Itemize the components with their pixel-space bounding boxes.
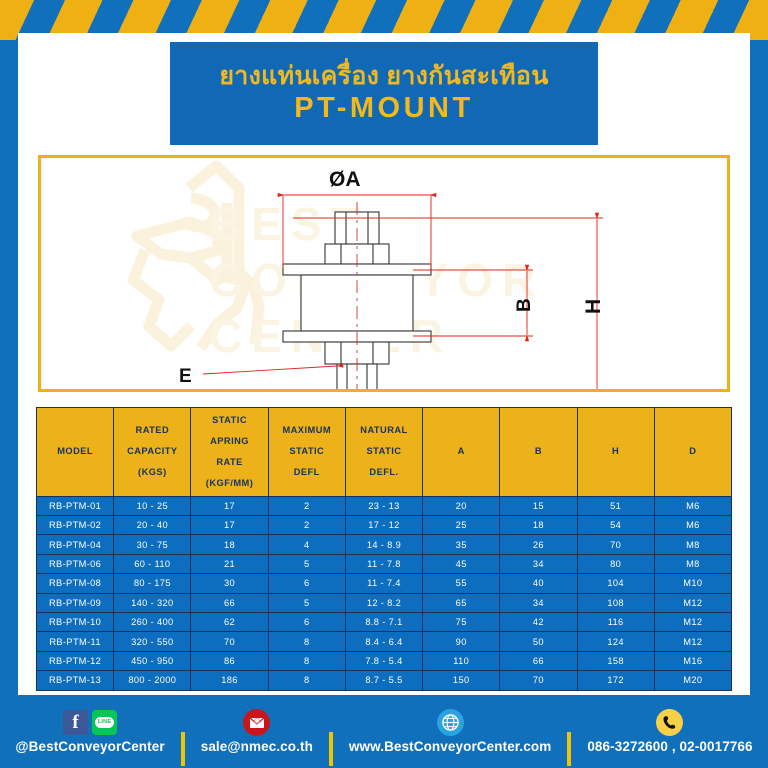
cell-a: 35 bbox=[423, 535, 500, 554]
column-header-b: B bbox=[500, 408, 577, 497]
contact-social-label: @BestConveyorCenter bbox=[15, 739, 164, 754]
cell-b: 18 bbox=[500, 516, 577, 535]
cell-rated-capacity: 60 - 110 bbox=[114, 554, 191, 573]
table-row: RB-PTM-12 450 - 950 86 8 7.8 - 5.4 110 6… bbox=[37, 651, 732, 670]
cell-rated-capacity: 320 - 550 bbox=[114, 632, 191, 651]
cell-b: 50 bbox=[500, 632, 577, 651]
cell-d: M12 bbox=[654, 593, 731, 612]
cell-b: 42 bbox=[500, 612, 577, 631]
cell-b: 40 bbox=[500, 574, 577, 593]
cell-max-static-defl: 6 bbox=[268, 574, 345, 593]
column-header-h: H bbox=[577, 408, 654, 497]
phone-icon-wrap bbox=[656, 710, 683, 736]
cell-model: RB-PTM-13 bbox=[37, 671, 114, 690]
cell-d: M10 bbox=[654, 574, 731, 593]
cell-b: 34 bbox=[500, 593, 577, 612]
cell-spring-rate: 17 bbox=[191, 516, 268, 535]
cell-max-static-defl: 4 bbox=[268, 535, 345, 554]
cell-b: 66 bbox=[500, 651, 577, 670]
cell-rated-capacity: 80 - 175 bbox=[114, 574, 191, 593]
footer-divider bbox=[567, 732, 571, 766]
cell-spring-rate: 66 bbox=[191, 593, 268, 612]
cell-b: 15 bbox=[500, 496, 577, 515]
cell-rated-capacity: 30 - 75 bbox=[114, 535, 191, 554]
cell-max-static-defl: 2 bbox=[268, 516, 345, 535]
cell-d: M12 bbox=[654, 612, 731, 631]
cell-d: M16 bbox=[654, 651, 731, 670]
cell-natural-static-defl: 8.4 - 6.4 bbox=[345, 632, 422, 651]
cell-a: 150 bbox=[423, 671, 500, 690]
cell-b: 70 bbox=[500, 671, 577, 690]
email-icon-wrap bbox=[243, 710, 270, 736]
cell-model: RB-PTM-09 bbox=[37, 593, 114, 612]
cell-spring-rate: 17 bbox=[191, 496, 268, 515]
cell-spring-rate: 86 bbox=[191, 651, 268, 670]
cell-natural-static-defl: 17 - 12 bbox=[345, 516, 422, 535]
cell-model: RB-PTM-02 bbox=[37, 516, 114, 535]
cell-a: 55 bbox=[423, 574, 500, 593]
cell-spring-rate: 18 bbox=[191, 535, 268, 554]
table-row: RB-PTM-02 20 - 40 17 2 17 - 12 25 18 54 … bbox=[37, 516, 732, 535]
email-icon[interactable] bbox=[243, 709, 270, 736]
cell-max-static-defl: 5 bbox=[268, 593, 345, 612]
contact-phone[interactable]: 086-3272600 , 02-0017766 bbox=[587, 710, 752, 754]
cell-d: M12 bbox=[654, 632, 731, 651]
cell-natural-static-defl: 11 - 7.4 bbox=[345, 574, 422, 593]
cell-max-static-defl: 8 bbox=[268, 632, 345, 651]
table-row: RB-PTM-10 260 - 400 62 6 8.8 - 7.1 75 42… bbox=[37, 612, 732, 631]
cell-a: 75 bbox=[423, 612, 500, 631]
table-header: MODEL RATED CAPACITY (KGS) STATIC APRING… bbox=[37, 408, 732, 497]
cell-natural-static-defl: 7.8 - 5.4 bbox=[345, 651, 422, 670]
title-banner: ยางแท่นเครื่อง ยางกันสะเทือน PT-MOUNT bbox=[170, 42, 598, 145]
social-icons: f LINE bbox=[63, 710, 117, 736]
cell-spring-rate: 21 bbox=[191, 554, 268, 573]
cell-max-static-defl: 2 bbox=[268, 496, 345, 515]
cell-spring-rate: 70 bbox=[191, 632, 268, 651]
facebook-icon[interactable]: f bbox=[63, 710, 88, 735]
cell-model: RB-PTM-10 bbox=[37, 612, 114, 631]
contact-footer: f LINE @BestConveyorCenter sale@nmec.co.… bbox=[0, 695, 768, 768]
column-header-model: MODEL bbox=[37, 408, 114, 497]
contact-website-label: www.BestConveyorCenter.com bbox=[349, 739, 551, 754]
cell-a: 20 bbox=[423, 496, 500, 515]
cell-spring-rate: 186 bbox=[191, 671, 268, 690]
cell-b: 26 bbox=[500, 535, 577, 554]
cell-rated-capacity: 800 - 2000 bbox=[114, 671, 191, 690]
cell-max-static-defl: 8 bbox=[268, 671, 345, 690]
technical-drawing-panel: BEST CONVEYOR CENTER bbox=[38, 155, 730, 392]
cell-rated-capacity: 140 - 320 bbox=[114, 593, 191, 612]
table-row: RB-PTM-06 60 - 110 21 5 11 - 7.8 45 34 8… bbox=[37, 554, 732, 573]
cell-model: RB-PTM-06 bbox=[37, 554, 114, 573]
cell-max-static-defl: 8 bbox=[268, 651, 345, 670]
footer-divider bbox=[181, 732, 185, 766]
footer-divider bbox=[329, 732, 333, 766]
table-row: RB-PTM-01 10 - 25 17 2 23 - 13 20 15 51 … bbox=[37, 496, 732, 515]
cell-d: M8 bbox=[654, 535, 731, 554]
table-row: RB-PTM-13 800 - 2000 186 8 8.7 - 5.5 150… bbox=[37, 671, 732, 690]
table-row: RB-PTM-04 30 - 75 18 4 14 - 8.9 35 26 70… bbox=[37, 535, 732, 554]
line-icon[interactable]: LINE bbox=[92, 710, 117, 735]
contact-social[interactable]: f LINE @BestConveyorCenter bbox=[15, 710, 164, 754]
cell-a: 25 bbox=[423, 516, 500, 535]
globe-glyph bbox=[442, 714, 459, 731]
dimension-label-diameter-a: ØA bbox=[329, 168, 361, 191]
cell-natural-static-defl: 11 - 7.8 bbox=[345, 554, 422, 573]
cell-h: 158 bbox=[577, 651, 654, 670]
table-body: RB-PTM-01 10 - 25 17 2 23 - 13 20 15 51 … bbox=[37, 496, 732, 690]
page-title-thai: ยางแท่นเครื่อง ยางกันสะเทือน bbox=[219, 62, 548, 91]
page-title-model: PT-MOUNT bbox=[294, 92, 473, 125]
cell-model: RB-PTM-11 bbox=[37, 632, 114, 651]
cell-natural-static-defl: 23 - 13 bbox=[345, 496, 422, 515]
cell-max-static-defl: 5 bbox=[268, 554, 345, 573]
pt-mount-engineering-drawing: ØA H B E bbox=[41, 158, 730, 392]
cell-h: 104 bbox=[577, 574, 654, 593]
cell-model: RB-PTM-08 bbox=[37, 574, 114, 593]
cell-h: 108 bbox=[577, 593, 654, 612]
cell-h: 54 bbox=[577, 516, 654, 535]
cell-model: RB-PTM-12 bbox=[37, 651, 114, 670]
column-header-a: A bbox=[423, 408, 500, 497]
cell-spring-rate: 30 bbox=[191, 574, 268, 593]
table-header-row: MODEL RATED CAPACITY (KGS) STATIC APRING… bbox=[37, 408, 732, 497]
cell-d: M6 bbox=[654, 496, 731, 515]
cell-spring-rate: 62 bbox=[191, 612, 268, 631]
globe-icon[interactable] bbox=[437, 709, 464, 736]
cell-h: 172 bbox=[577, 671, 654, 690]
cell-model: RB-PTM-01 bbox=[37, 496, 114, 515]
cell-natural-static-defl: 12 - 8.2 bbox=[345, 593, 422, 612]
contact-website[interactable]: www.BestConveyorCenter.com bbox=[349, 710, 551, 754]
cell-natural-static-defl: 14 - 8.9 bbox=[345, 535, 422, 554]
cell-a: 90 bbox=[423, 632, 500, 651]
cell-a: 65 bbox=[423, 593, 500, 612]
cell-a: 110 bbox=[423, 651, 500, 670]
cell-b: 34 bbox=[500, 554, 577, 573]
table-row: RB-PTM-09 140 - 320 66 5 12 - 8.2 65 34 … bbox=[37, 593, 732, 612]
phone-glyph bbox=[662, 715, 677, 730]
column-header-maximum-static-defl: MAXIMUM STATIC DEFL bbox=[268, 408, 345, 497]
cell-model: RB-PTM-04 bbox=[37, 535, 114, 554]
contact-phone-label: 086-3272600 , 02-0017766 bbox=[587, 739, 752, 754]
dimension-label-b: B bbox=[514, 298, 535, 312]
contact-email-label: sale@nmec.co.th bbox=[201, 739, 313, 754]
cell-a: 45 bbox=[423, 554, 500, 573]
cell-rated-capacity: 20 - 40 bbox=[114, 516, 191, 535]
globe-icon-wrap bbox=[437, 710, 464, 736]
cell-h: 116 bbox=[577, 612, 654, 631]
cell-h: 70 bbox=[577, 535, 654, 554]
cell-natural-static-defl: 8.7 - 5.5 bbox=[345, 671, 422, 690]
cell-h: 51 bbox=[577, 496, 654, 515]
phone-icon[interactable] bbox=[656, 709, 683, 736]
cell-rated-capacity: 10 - 25 bbox=[114, 496, 191, 515]
column-header-d: D bbox=[654, 408, 731, 497]
table-row: RB-PTM-08 80 - 175 30 6 11 - 7.4 55 40 1… bbox=[37, 574, 732, 593]
dimension-label-h: H bbox=[582, 299, 605, 314]
column-header-static-spring-rate: STATIC APRING RATE (KGF/MM) bbox=[191, 408, 268, 497]
cell-rated-capacity: 450 - 950 bbox=[114, 651, 191, 670]
cell-d: M8 bbox=[654, 554, 731, 573]
specification-table: MODEL RATED CAPACITY (KGS) STATIC APRING… bbox=[36, 407, 732, 691]
contact-email[interactable]: sale@nmec.co.th bbox=[201, 710, 313, 754]
column-header-natural-static-defl: NATURAL STATIC DEFL. bbox=[345, 408, 422, 497]
cell-natural-static-defl: 8.8 - 7.1 bbox=[345, 612, 422, 631]
cell-h: 124 bbox=[577, 632, 654, 651]
envelope-glyph bbox=[249, 717, 265, 729]
cell-d: M6 bbox=[654, 516, 731, 535]
dimension-label-e: E bbox=[179, 366, 192, 387]
cell-d: M20 bbox=[654, 671, 731, 690]
column-header-rated-capacity: RATED CAPACITY (KGS) bbox=[114, 408, 191, 497]
cell-rated-capacity: 260 - 400 bbox=[114, 612, 191, 631]
cell-max-static-defl: 6 bbox=[268, 612, 345, 631]
cell-h: 80 bbox=[577, 554, 654, 573]
table-row: RB-PTM-11 320 - 550 70 8 8.4 - 6.4 90 50… bbox=[37, 632, 732, 651]
